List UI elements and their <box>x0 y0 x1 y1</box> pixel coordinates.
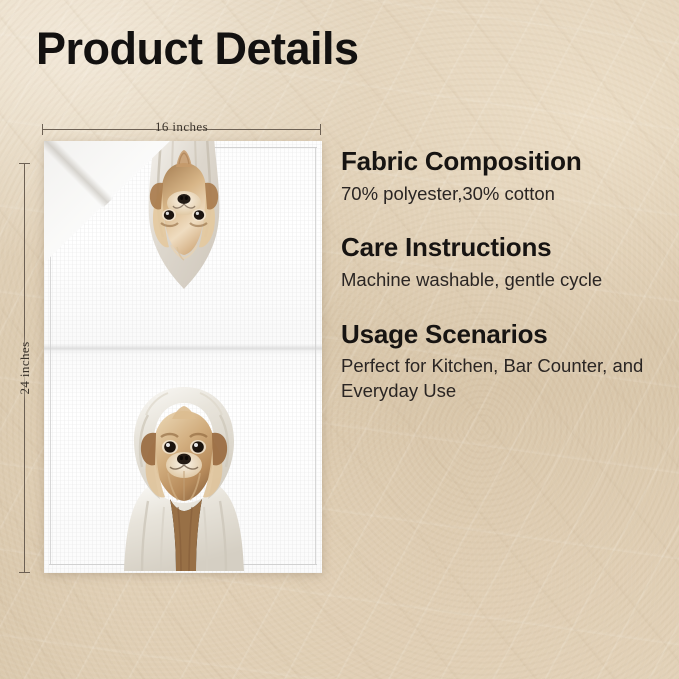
page-title: Product Details <box>36 25 359 72</box>
height-dimension-annotation: 24 inches <box>16 163 34 573</box>
details-column: Fabric Composition 70% polyester,30% cot… <box>341 146 666 404</box>
dog-in-hooded-robe-graphic <box>108 381 260 571</box>
height-dimension-cap-top <box>19 163 30 164</box>
width-dimension-annotation: 16 inches <box>42 121 321 139</box>
height-dimension-label: 24 inches <box>17 332 33 403</box>
usage-scenarios-body: Perfect for Kitchen, Bar Counter, and Ev… <box>341 354 666 403</box>
width-dimension-cap-left <box>42 124 43 135</box>
towel-hem-right <box>315 147 316 565</box>
towel-seam-line <box>44 344 322 355</box>
product-details-infographic: Product Details 16 inches 24 inches <box>0 0 679 679</box>
care-instructions-body: Machine washable, gentle cycle <box>341 268 666 293</box>
width-dimension-cap-right <box>320 124 321 135</box>
height-dimension-cap-bottom <box>19 572 30 573</box>
detail-block-care-instructions: Care Instructions Machine washable, gent… <box>341 232 666 292</box>
fabric-composition-heading: Fabric Composition <box>341 146 666 178</box>
usage-scenarios-heading: Usage Scenarios <box>341 319 666 351</box>
detail-block-fabric-composition: Fabric Composition 70% polyester,30% cot… <box>341 146 666 206</box>
detail-block-usage-scenarios: Usage Scenarios Perfect for Kitchen, Bar… <box>341 319 666 404</box>
care-instructions-heading: Care Instructions <box>341 232 666 264</box>
product-photo-towel <box>44 141 322 573</box>
fabric-composition-body: 70% polyester,30% cotton <box>341 182 666 207</box>
width-dimension-label: 16 inches <box>147 119 216 135</box>
